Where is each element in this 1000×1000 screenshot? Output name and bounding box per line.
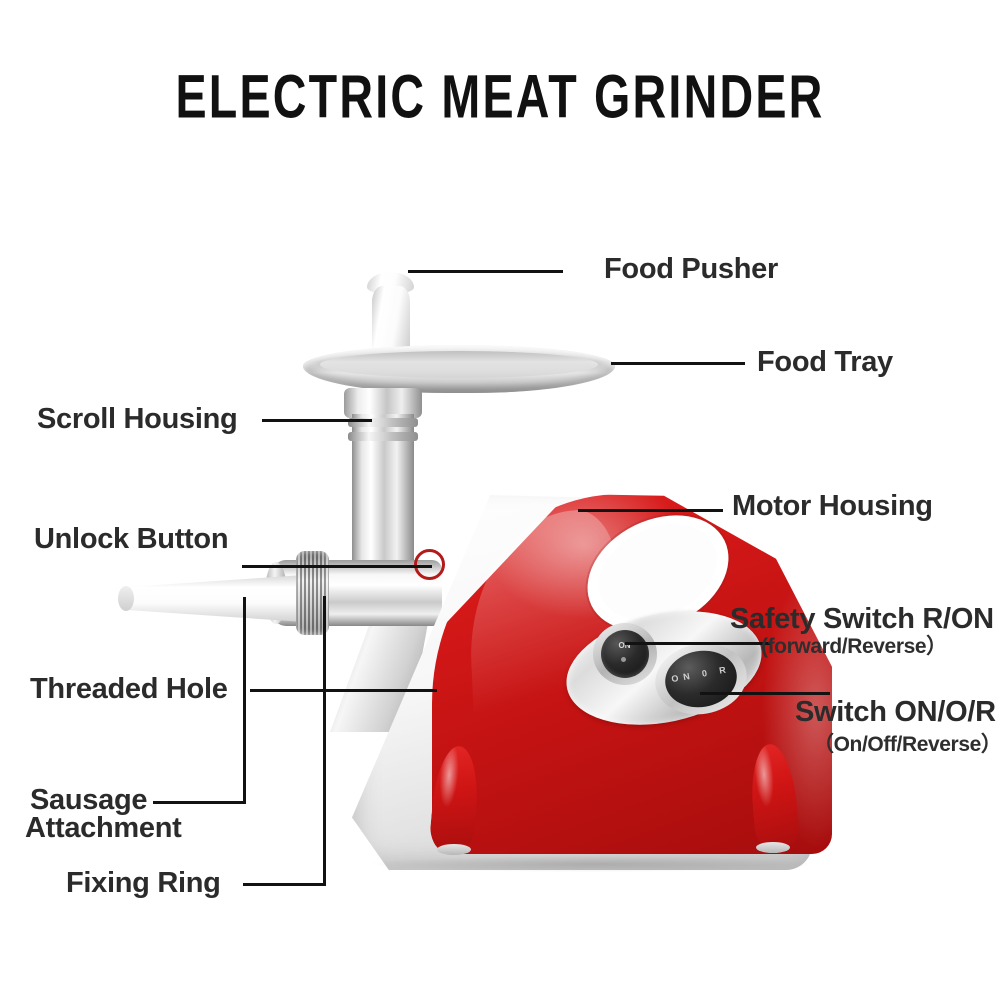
sausage-attachment-horn	[123, 575, 305, 622]
leader-line-food-tray	[611, 362, 745, 365]
leader-line-unlock-button	[242, 565, 432, 568]
callout-food-pusher: Food Pusher	[604, 254, 778, 284]
leader-line-scroll-housing	[262, 419, 372, 422]
product-diagram-page: ELECTRIC MEAT GRINDER ON	[0, 0, 1000, 1000]
leader-line-food-pusher	[408, 270, 563, 273]
callout-safety-switch: Safety Switch R/ON	[730, 604, 994, 634]
safety-switch[interactable]	[601, 630, 649, 678]
leader-line-motor-housing	[578, 509, 723, 512]
base-shadow	[372, 856, 812, 872]
scroll-housing-ring-2	[348, 432, 418, 441]
callout-unlock-button: Unlock Button	[34, 524, 228, 554]
callout-threaded-hole: Threaded Hole	[30, 674, 228, 704]
sausage-attachment-tip	[118, 586, 134, 611]
front-foot-pad	[437, 844, 471, 855]
food-pusher-body	[372, 286, 410, 352]
leader-line-sausage-attachment	[153, 801, 243, 804]
callout-scroll-housing: Scroll Housing	[37, 404, 237, 434]
rear-foot-pad	[756, 842, 790, 853]
safety-switch-indicator-dot	[621, 657, 626, 662]
leader-line-sausage-attachment-vertical	[243, 689, 246, 804]
leader-line-safety-switch	[625, 642, 770, 645]
callout-switch-on: Switch ON/O/R	[795, 697, 996, 727]
callout-sausage-attachment-line1: Sausage	[30, 785, 147, 815]
callout-safety-switch-sub: (forward/Reverse）	[761, 636, 947, 658]
callout-motor-housing: Motor Housing	[732, 491, 933, 521]
leader-line-threaded-hole	[250, 689, 437, 692]
leader-line-threaded-hole-vertical	[243, 597, 246, 692]
food-tray-inner	[320, 351, 598, 378]
leader-line-switch-on	[700, 692, 830, 695]
leader-line-fixing-ring-vertical	[323, 596, 326, 886]
callout-sausage-attachment-line2: Attachment	[25, 813, 182, 843]
callout-switch-on-sub: （On/Off/Reverse）	[813, 734, 1000, 756]
callout-food-tray: Food Tray	[757, 347, 893, 377]
callout-fixing-ring: Fixing Ring	[66, 868, 221, 898]
leader-line-fixing-ring	[243, 883, 326, 886]
